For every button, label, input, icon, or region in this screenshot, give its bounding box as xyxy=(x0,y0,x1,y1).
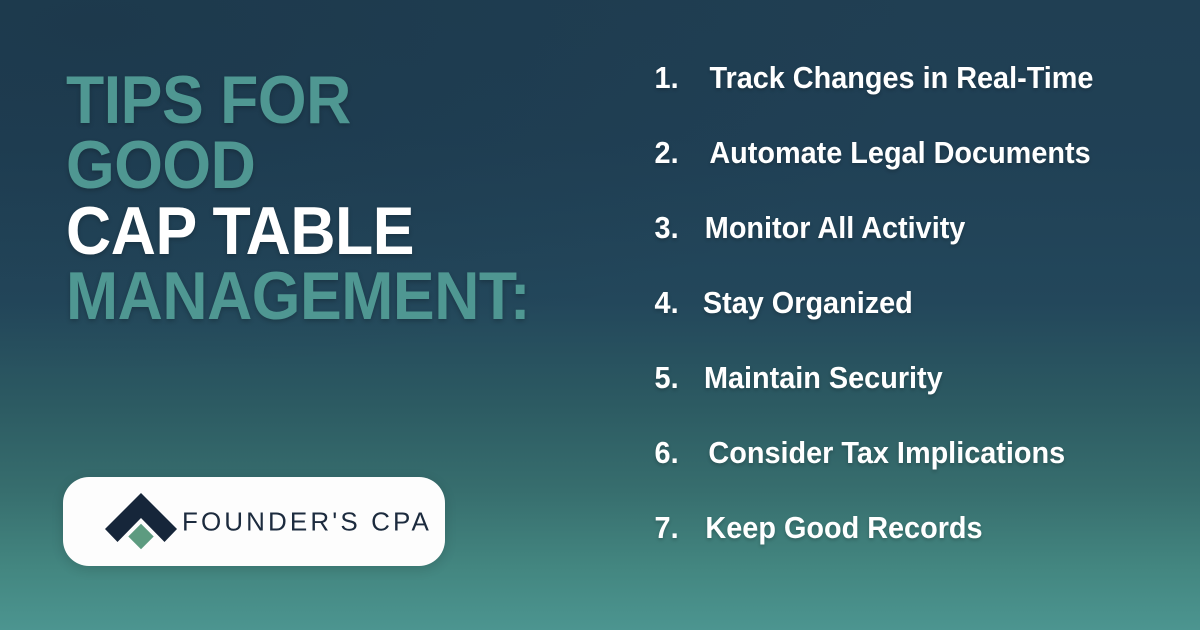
list-item-label: Consider Tax Implications xyxy=(708,437,1065,468)
list-item-label: Stay Organized xyxy=(703,287,913,318)
list-item-number: 7. xyxy=(641,512,678,543)
list-item-number: 6. xyxy=(641,437,678,468)
list-item-number: 2. xyxy=(641,137,678,168)
list-item-number: 3. xyxy=(641,212,678,243)
title-line-2: GOOD xyxy=(66,133,544,198)
chevron-diamond-logo-icon xyxy=(105,493,177,551)
tips-list: 1. Track Changes in Real-Time 2. Automat… xyxy=(640,62,1170,587)
list-item: 5. Maintain Security xyxy=(640,362,1170,437)
list-item-label: Keep Good Records xyxy=(705,512,982,543)
list-item: 1. Track Changes in Real-Time xyxy=(640,62,1170,137)
graphic-canvas: TIPS FOR GOOD CAP TABLE MANAGEMENT: FOUN… xyxy=(0,0,1200,630)
list-item-label: Track Changes in Real-Time xyxy=(709,62,1093,93)
list-item-number: 5. xyxy=(641,362,678,393)
list-item: 4. Stay Organized xyxy=(640,287,1170,362)
logo-wordmark: FOUNDER'S CPA xyxy=(182,506,432,537)
page-title: TIPS FOR GOOD CAP TABLE MANAGEMENT: xyxy=(66,68,586,329)
title-line-1: TIPS FOR xyxy=(66,68,544,133)
list-item-number: 4. xyxy=(641,287,678,318)
list-item: 3. Monitor All Activity xyxy=(640,212,1170,287)
title-line-4: MANAGEMENT: xyxy=(66,264,544,329)
title-line-3: CAP TABLE xyxy=(66,199,544,264)
list-item-label: Monitor All Activity xyxy=(705,212,966,243)
list-item-label: Automate Legal Documents xyxy=(709,137,1090,168)
list-item: 6. Consider Tax Implications xyxy=(640,437,1170,512)
list-item-number: 1. xyxy=(641,62,678,93)
list-item: 7. Keep Good Records xyxy=(640,512,1170,587)
list-item: 2. Automate Legal Documents xyxy=(640,137,1170,212)
list-item-label: Maintain Security xyxy=(704,362,943,393)
logo-badge: FOUNDER'S CPA xyxy=(63,477,445,566)
